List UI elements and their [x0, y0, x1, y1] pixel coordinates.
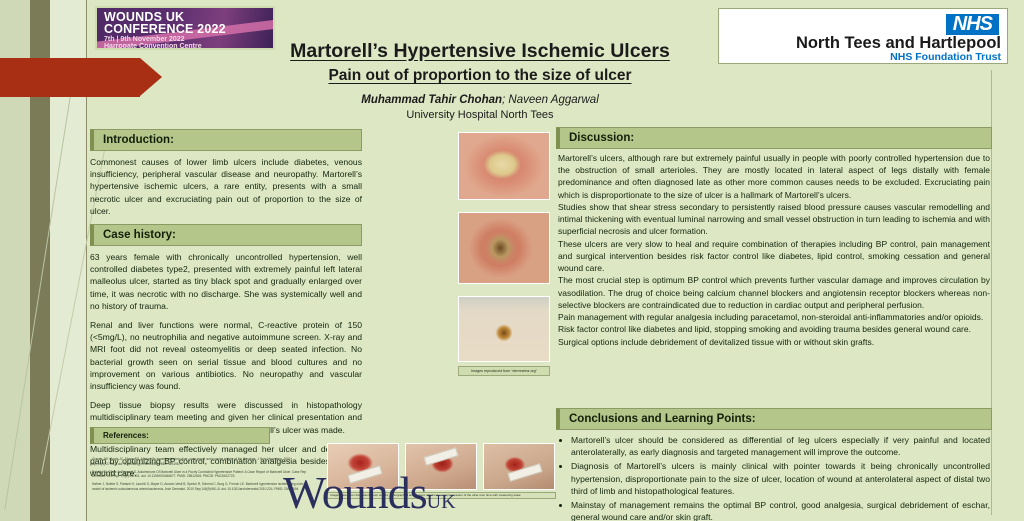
case-history-paragraph-2: Renal and liver functions were normal, C…: [90, 319, 362, 392]
discussion-paragraph-2: Studies show that shear stress secondary…: [558, 201, 990, 238]
author-secondary: ; Naveen Aggarwal: [502, 94, 599, 106]
section-header-discussion: Discussion:: [556, 127, 992, 149]
discussion-paragraph-7: Surgical options include debridement of …: [558, 336, 990, 348]
section-header-conclusions: Conclusions and Learning Points:: [556, 408, 992, 430]
discussion-paragraph-3: These ulcers are very slow to heal and r…: [558, 238, 990, 275]
conference-logo-line2: CONFERENCE 2022: [104, 23, 226, 35]
author-list: Muhammad Tahir Chohan; Naveen Aggarwal: [250, 94, 710, 106]
photo-column-caption: Images reproduced from “dermnetnz.org”: [458, 366, 550, 376]
wounds-uk-conference-logo: WOUNDS UK CONFERENCE 2022 7th | 9th Nove…: [95, 6, 275, 50]
section-header-references: References:: [90, 427, 270, 444]
discussion-paragraph-4: The most crucial step is optimum BP cont…: [558, 274, 990, 311]
discussion-paragraph-1: Martorell’s ulcers, although rare but ex…: [558, 152, 990, 201]
references-list: Graves JW, Morris JC, Sheps SG. Martorel…: [92, 457, 307, 495]
discussion-paragraph-5: Pain management with regular analgesia i…: [558, 311, 990, 323]
case-history-paragraph-1: 63 years female with chronically uncontr…: [90, 251, 362, 312]
uk-wordmark: UK: [427, 491, 456, 513]
conclusions-list: Martorell’s ulcer should be considered a…: [558, 434, 990, 521]
red-arrow-graphic: [0, 58, 140, 97]
affiliation: University Hospital North Tees: [250, 109, 710, 121]
poster-title: Martorell’s Hypertensive Ischemic Ulcers: [250, 40, 710, 63]
discussion-paragraph-6: Risk factor control like diabetes and li…: [558, 323, 990, 335]
author-primary: Muhammad Tahir Chohan: [361, 94, 502, 106]
clinical-photo-ulcer-2: [458, 212, 550, 284]
nhs-trust-logo: NHS North Tees and Hartlepool NHS Founda…: [718, 8, 1008, 64]
section-header-case-history: Case history:: [90, 224, 362, 246]
reference-item: Rabbit HE, Gibye A, Pomanti S. Autoimmun…: [92, 470, 307, 480]
wound-progress-photo-3: [483, 443, 555, 490]
wounds-wordmark: Wounds: [283, 467, 427, 518]
measuring-ruler: [423, 447, 458, 466]
poster-subtitle: Pain out of proportion to the size of ul…: [250, 67, 710, 85]
conference-logo-venue: Harrogate Convention Centre: [104, 43, 202, 50]
conference-logo-dates: 7th | 9th November 2022: [104, 36, 185, 43]
poster-canvas: WOUNDS UK CONFERENCE 2022 7th | 9th Nove…: [0, 0, 1024, 521]
introduction-paragraph-1: Commonest causes of lower limb ulcers in…: [90, 156, 362, 217]
reference-item: Hafner J, Nobbe S, Partsch H, Lauchli S,…: [92, 482, 307, 492]
conclusion-bullet: Diagnosis of Martorell’s ulcers is mainl…: [571, 460, 990, 497]
case-history-body: 63 years female with chronically uncontr…: [90, 251, 362, 479]
conclusion-bullet: Mainstay of management remains the optim…: [571, 499, 990, 521]
reference-item: Graves JW, Morris JC, Sheps SG. Martorel…: [92, 457, 307, 467]
section-header-introduction: Introduction:: [90, 129, 362, 151]
nhs-foundation-trust-label: NHS Foundation Trust: [729, 51, 1001, 63]
clinical-photo-ulcer-3: [458, 296, 550, 362]
clinical-photo-ulcer-1: [458, 132, 550, 200]
conclusions-body: Martorell’s ulcer should be considered a…: [558, 434, 990, 521]
introduction-body: Commonest causes of lower limb ulcers in…: [90, 156, 362, 217]
nhs-wordmark: NHS: [946, 14, 999, 35]
measuring-ruler: [507, 463, 542, 482]
wounds-uk-footer-logo: WoundsUK: [283, 470, 456, 521]
discussion-body: Martorell’s ulcers, although rare but ex…: [558, 152, 990, 348]
conclusion-bullet: Martorell’s ulcer should be considered a…: [571, 434, 990, 459]
